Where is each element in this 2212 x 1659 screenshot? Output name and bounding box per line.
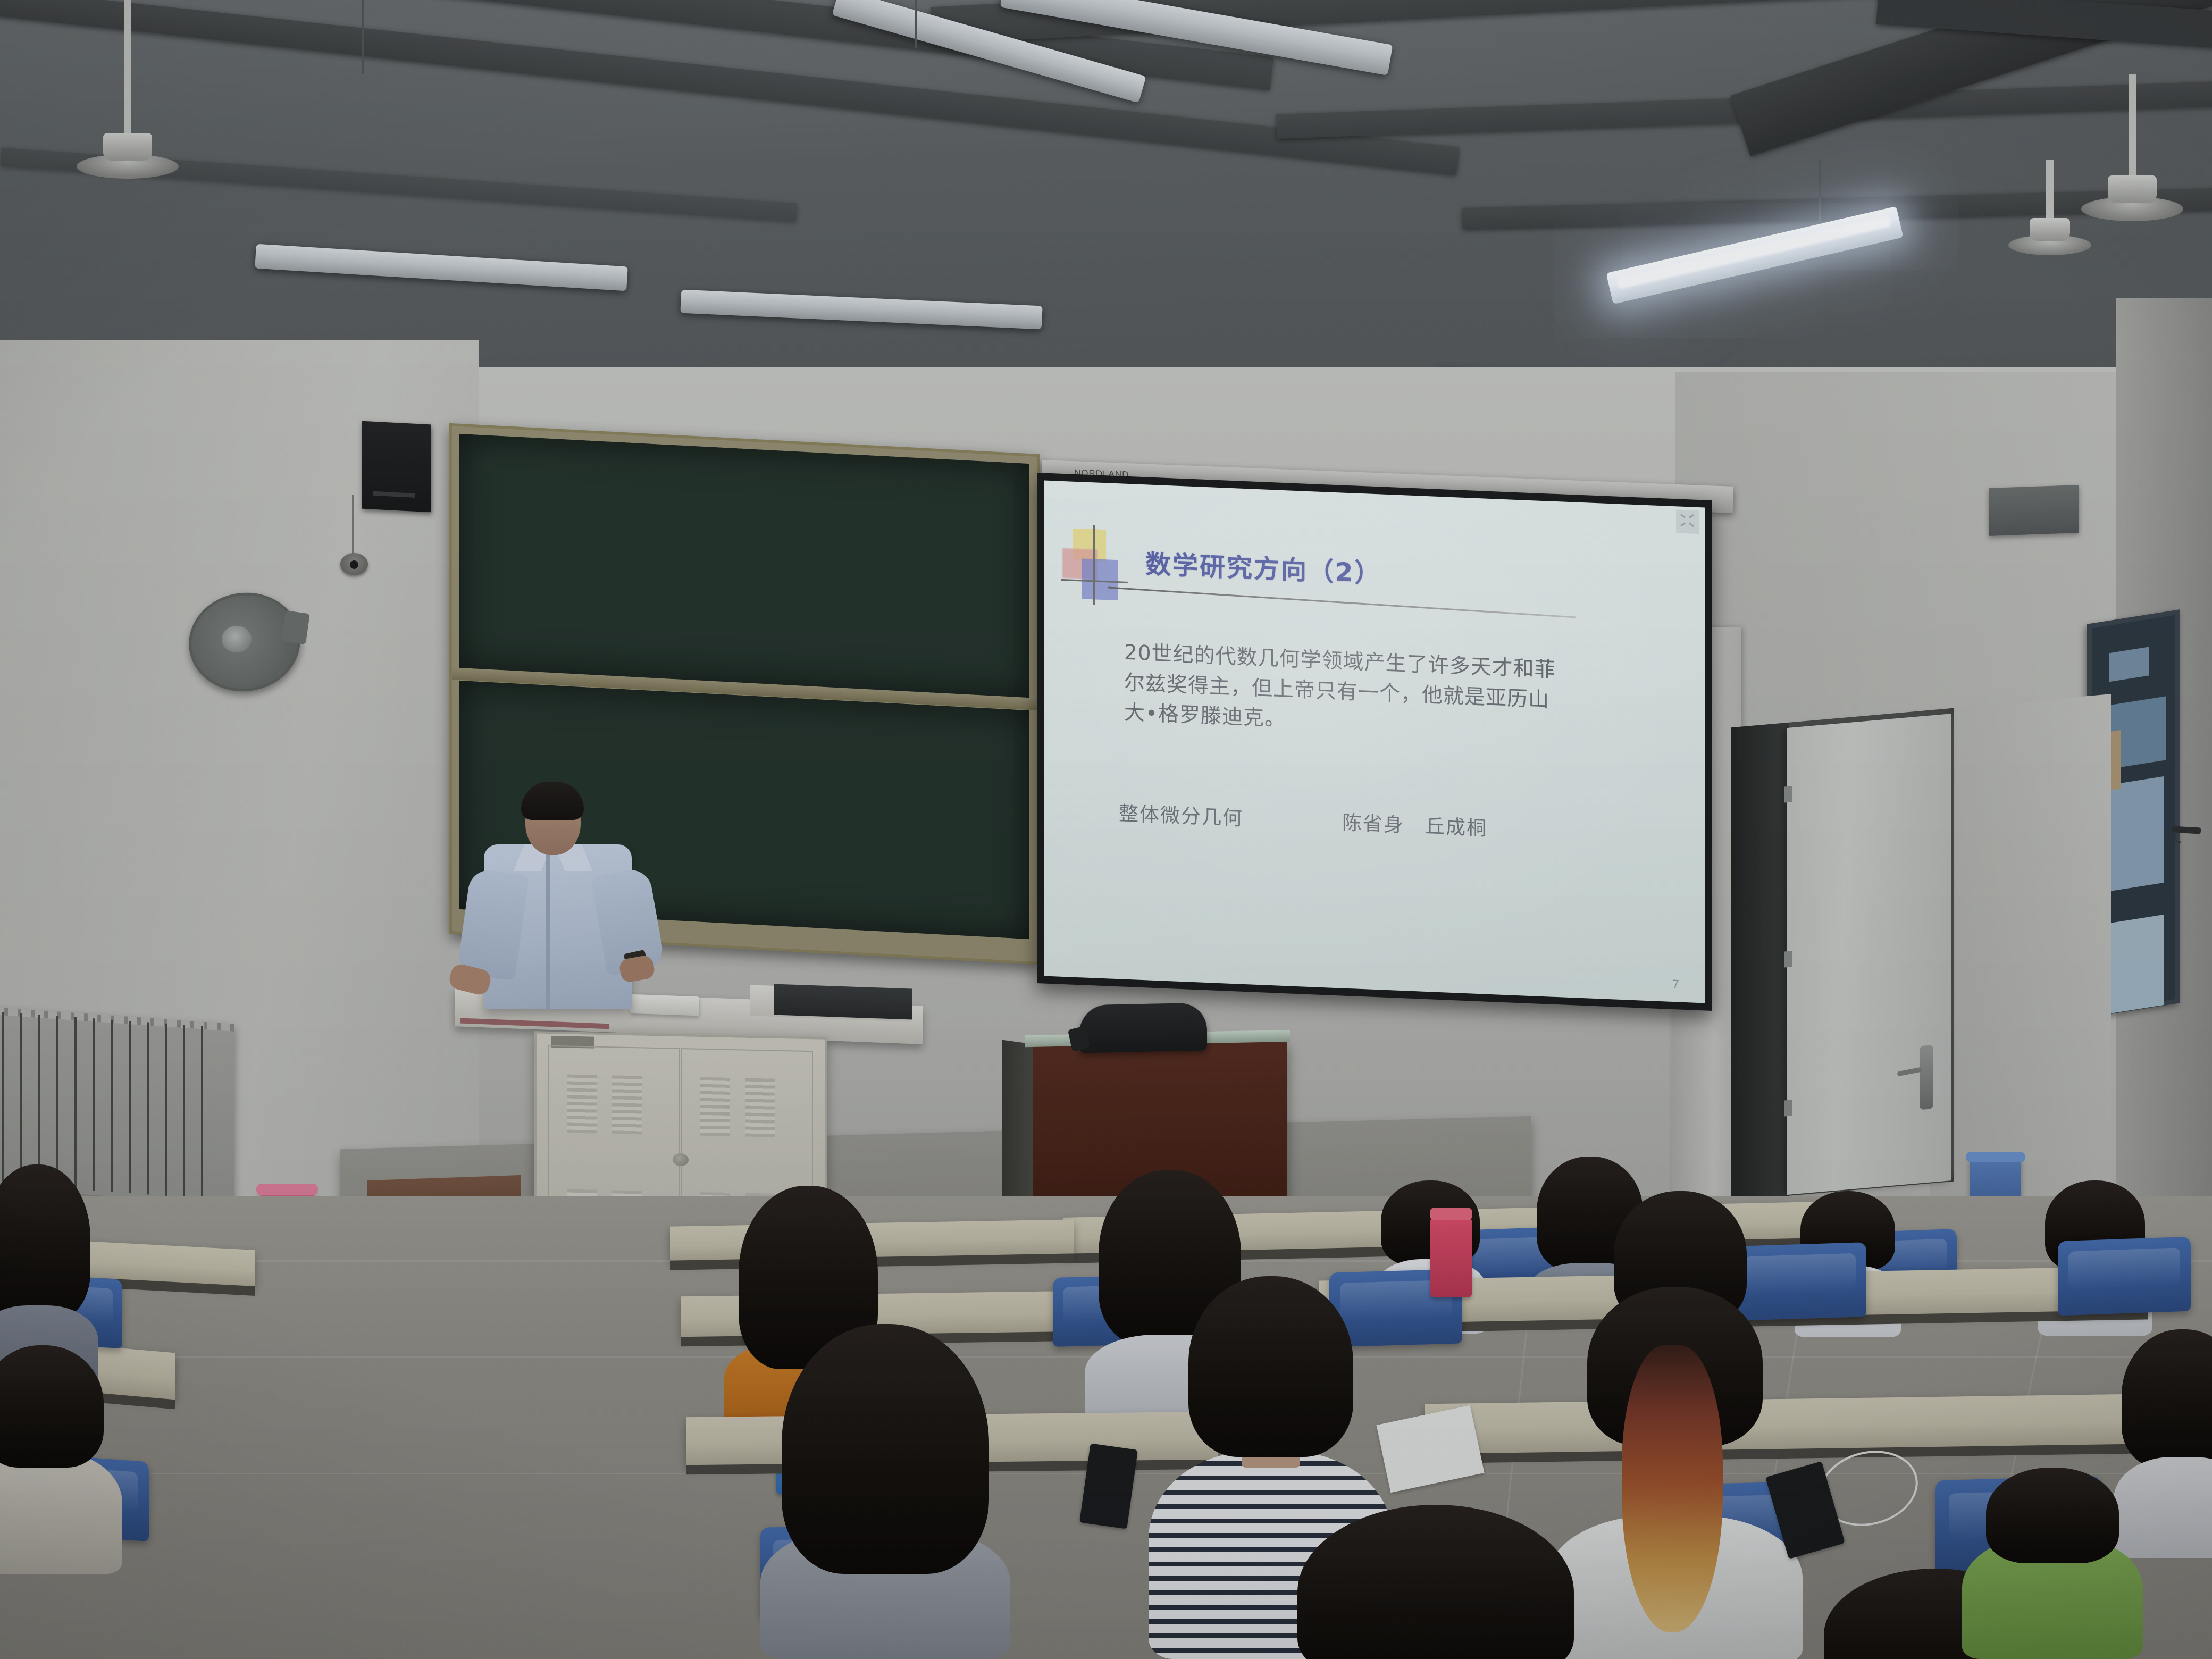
student-grey-sweater	[771, 1324, 1000, 1659]
slide-subtext-row: 整体微分几何 陈省身 丘成桐	[1119, 797, 1629, 847]
cabinet-knob-icon[interactable]	[673, 1153, 689, 1167]
light-rod	[915, 0, 917, 48]
slide-page-number: 7	[1672, 977, 1679, 993]
student-ombre-hair	[1558, 1287, 1792, 1659]
desk-row-front-right	[1425, 1393, 2212, 1455]
slide-subtext-left: 整体微分几何	[1119, 797, 1342, 835]
chair[interactable]	[2058, 1237, 2191, 1316]
instructor	[468, 782, 649, 1042]
slide-subtext-right: 陈省身 丘成桐	[1342, 806, 1487, 841]
door-handle-icon[interactable]	[1920, 1045, 1933, 1110]
oscillating-wall-fan[interactable]	[189, 593, 300, 694]
door-opening	[1731, 723, 1789, 1201]
wall-speaker-left	[362, 421, 431, 513]
sensor-wire	[352, 495, 354, 556]
screen-corner-marker-icon	[1676, 509, 1699, 534]
chalkboard-upper-pane	[459, 434, 1029, 698]
classroom-door[interactable]	[1731, 708, 1954, 1201]
student-left-front	[0, 1345, 117, 1569]
projection-surface: 数学研究方向（2） 20世纪的代数几何学领域产生了许多天才和菲尔兹奖得主，但上帝…	[1044, 481, 1705, 1003]
student-front-center	[1287, 1505, 1585, 1659]
av-control-panel[interactable]	[774, 984, 912, 1019]
student-green-jacket	[1967, 1468, 2138, 1659]
wall-hook	[2172, 826, 2201, 834]
camera-sensor-icon	[340, 553, 368, 575]
slide-title-rule	[1108, 586, 1576, 618]
classroom-scene: NORDLAND 数学研究方向（2） 20世纪的代数几何学领域产生了许多天才和菲…	[0, 0, 2212, 1659]
wall-speaker-right	[1989, 485, 2079, 536]
light-rod	[362, 0, 364, 74]
projector-screen[interactable]: 数学研究方向（2） 20世纪的代数几何学领域产生了许多天才和菲尔兹奖得主，但上帝…	[1037, 473, 1712, 1011]
water-bottle-pink[interactable]	[1430, 1218, 1472, 1297]
door-side-wall	[1930, 694, 2111, 1220]
bag-on-desk	[1079, 1002, 1207, 1053]
door-leaf[interactable]	[1787, 714, 1951, 1195]
presentation-slide: 数学研究方向（2） 20世纪的代数几何学领域产生了许多天才和菲尔兹奖得主，但上帝…	[1044, 481, 1705, 1003]
slide-body-text: 20世纪的代数几何学领域产生了许多天才和菲尔兹奖得主，但上帝只有一个，他就是亚历…	[1124, 638, 1565, 747]
slide-title: 数学研究方向（2）	[1145, 543, 1381, 590]
slide-decoration-icon	[1067, 528, 1136, 602]
